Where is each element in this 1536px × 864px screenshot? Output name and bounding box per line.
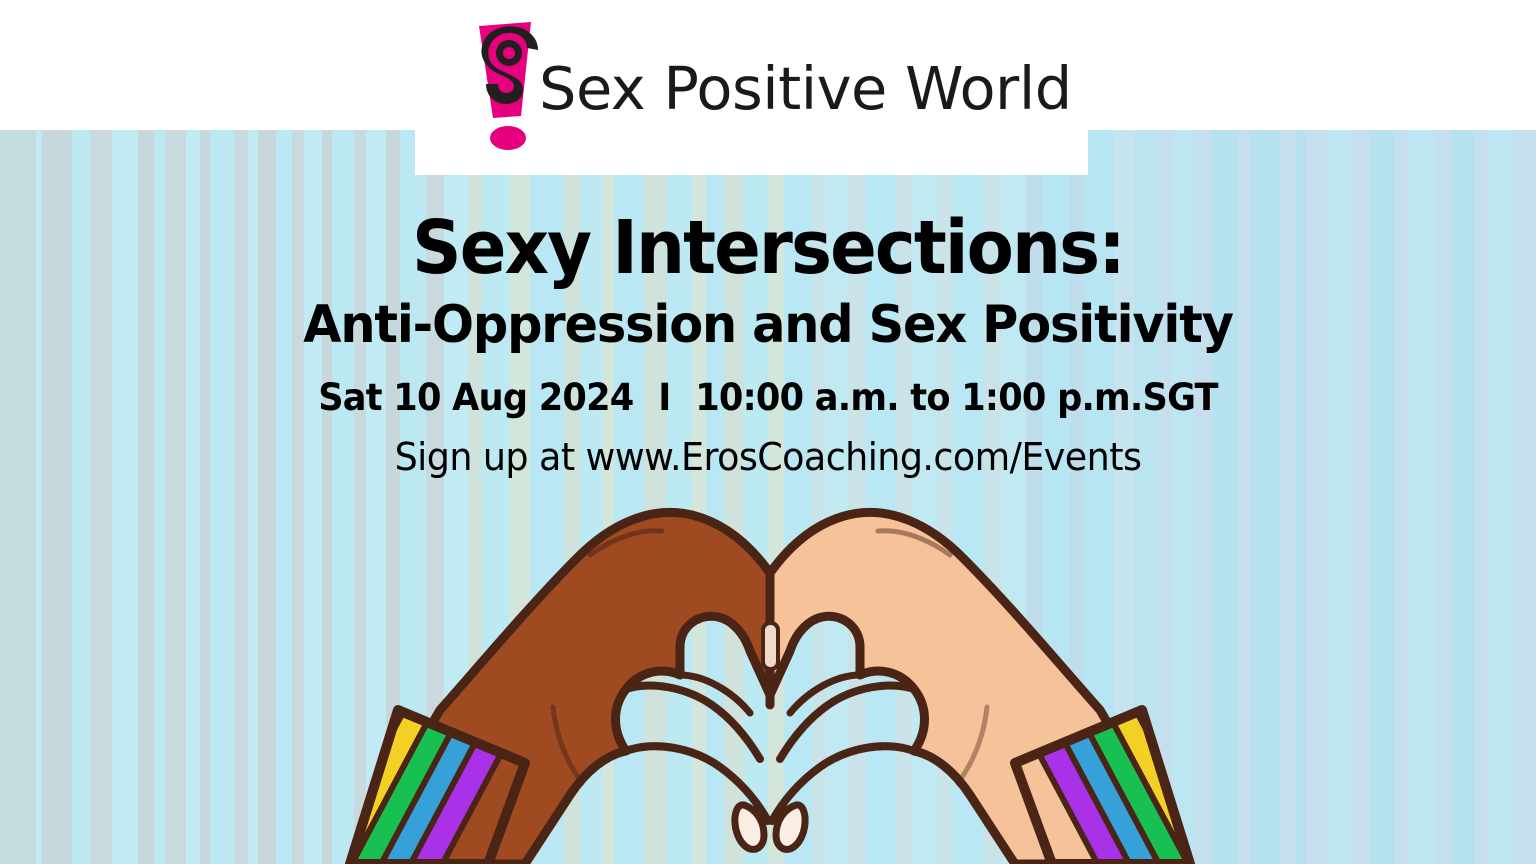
event-datetime-row: Sat 10 Aug 2024I10:00 a.m. to 1:00 p.m.S… xyxy=(38,378,1497,419)
headline-block: Sexy Intersections: Anti-Oppression and … xyxy=(0,210,1536,479)
exclamation-mark-s-logo-icon xyxy=(465,20,547,155)
event-poster: Sex Positive World Sexy Intersections: A… xyxy=(0,0,1536,864)
signup-link-text[interactable]: Sign up at www.ErosCoaching.com/Events xyxy=(31,437,1506,479)
event-time: 10:00 a.m. to 1:00 p.m.SGT xyxy=(695,376,1218,419)
page-title: Sexy Intersections: xyxy=(54,210,1482,287)
page-subtitle: Anti-Oppression and Sex Positivity xyxy=(38,295,1497,356)
brand-logo-box: Sex Positive World xyxy=(415,0,1088,175)
event-date: Sat 10 Aug 2024 xyxy=(318,376,633,419)
brand-wordmark: Sex Positive World xyxy=(539,59,1072,118)
datetime-separator: I xyxy=(634,378,696,419)
two-hands-forming-heart-illustration xyxy=(320,495,1220,864)
